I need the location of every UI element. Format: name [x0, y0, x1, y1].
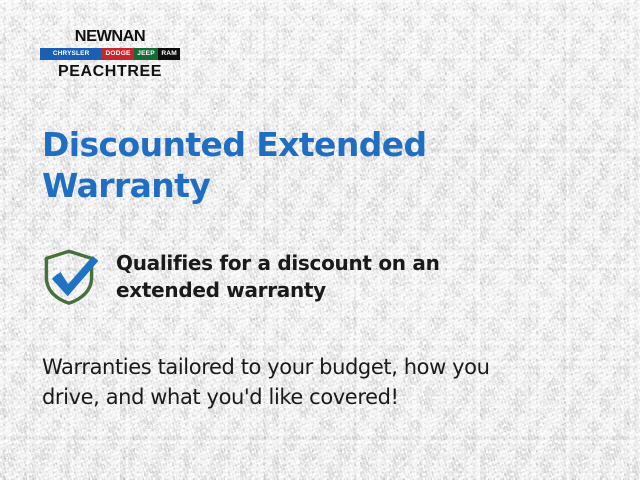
dealer-name-top: NEWNAN [39, 22, 182, 45]
brand-badge-ram: RAM [158, 48, 180, 60]
brand-badge-jeep: JEEP [134, 48, 159, 60]
tagline: Warranties tailored to your budget, how … [42, 352, 587, 412]
page-title-line-1: Discounted Extended [42, 124, 562, 165]
tagline-line-1: Warranties tailored to your budget, how … [42, 352, 587, 382]
benefit-row: Qualifies for a discount on an extended … [42, 246, 562, 306]
shield-check-icon [42, 248, 98, 306]
brand-badge-strip: CHRYSLER DODGE JEEP RAM [40, 48, 180, 60]
brand-badge-chrysler: CHRYSLER [40, 48, 102, 60]
dealer-name-bottom: PEACHTREE [40, 64, 180, 80]
benefit-text-line-1: Qualifies for a discount on an [116, 251, 440, 275]
page-title: Discounted Extended Warranty [42, 124, 562, 206]
page-title-line-2: Warranty [42, 165, 562, 206]
promo-content: NEWNAN CHRYSLER DODGE JEEP RAM PEACHTREE… [0, 0, 640, 480]
brand-badge-dodge: DODGE [102, 48, 134, 60]
benefit-text: Qualifies for a discount on an extended … [116, 246, 440, 304]
dealer-logo[interactable]: NEWNAN CHRYSLER DODGE JEEP RAM PEACHTREE [40, 22, 180, 80]
tagline-line-2: drive, and what you'd like covered! [42, 382, 587, 412]
benefit-text-line-2: extended warranty [116, 278, 326, 302]
promo-card: NEWNAN CHRYSLER DODGE JEEP RAM PEACHTREE… [0, 0, 640, 480]
